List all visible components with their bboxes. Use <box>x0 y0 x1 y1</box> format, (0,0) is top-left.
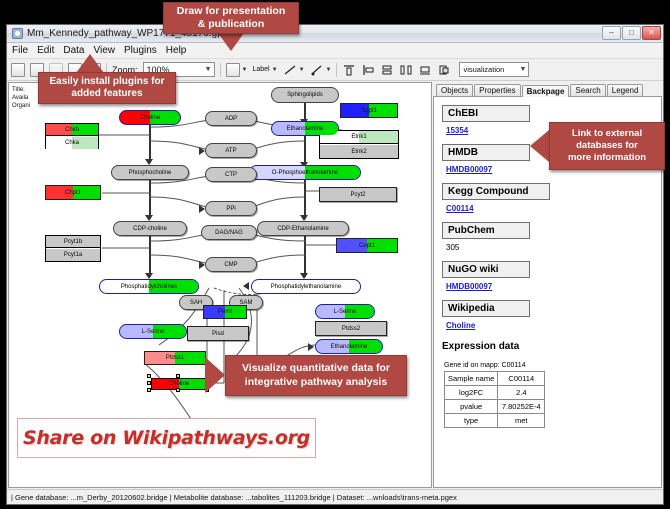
node-label: Ethanolamine <box>331 344 368 350</box>
gene-node-sgpl1[interactable]: Sgpl1 <box>340 103 398 118</box>
node-label: CDP-choline <box>133 226 167 232</box>
cell-value: 7.80252E-4 <box>498 400 545 414</box>
node-label: Ptdss1 <box>166 355 184 361</box>
db-header-nugo-wiki: NuGO wiki <box>442 261 530 278</box>
gene-node-pisd[interactable]: Pisd <box>187 326 249 341</box>
selection-handle-w[interactable] <box>147 381 151 385</box>
gene-group-pcyt1[interactable]: Pcyt1b Pcyt1a <box>45 235 101 262</box>
node-label: DAG/NAG <box>215 230 243 236</box>
selection-handle-s[interactable] <box>176 388 180 392</box>
visualization-combo[interactable]: visualization ▼ <box>459 62 529 77</box>
expression-data-title: Expression data <box>442 341 655 352</box>
db-header-hmdb: HMDB <box>442 144 530 161</box>
db-link-hmdb[interactable]: HMDB00097 <box>446 165 492 174</box>
stack-vertical-icon[interactable] <box>380 63 394 77</box>
metabolite-node-cdp-ethanolamine[interactable]: CDP-Ethanolamine <box>257 221 349 236</box>
close-button[interactable]: ✕ <box>642 26 661 40</box>
size-equal-icon[interactable] <box>418 63 432 77</box>
callout-share-on-wikipathways: Share on Wikipathways.org <box>17 418 316 458</box>
node-label: Sphingolipids <box>287 92 323 98</box>
node-label: Chkb <box>65 127 79 133</box>
minimize-button[interactable]: – <box>602 26 621 40</box>
metabolite-node-phosphocholine[interactable]: Phosphocholine <box>111 165 189 180</box>
node-label: L-Serine <box>334 309 357 315</box>
menu-item-file[interactable]: File <box>12 45 28 56</box>
metabolite-node-cmp[interactable]: CMP <box>205 257 257 272</box>
application-icon <box>12 28 23 39</box>
node-label: O-Phosphoethanolamine <box>272 170 338 176</box>
visualization-chevron-down-icon: ▼ <box>520 66 527 73</box>
node-label: Phosphatidylethanolamine <box>271 284 341 290</box>
cell-label: pvalue <box>445 400 498 414</box>
db-link-kegg-compound[interactable]: C00114 <box>446 204 474 213</box>
gene-node-pemt[interactable]: Pemt <box>203 305 247 319</box>
metabolite-node-o-phosphoethanolamine[interactable]: O-Phosphoethanolamine <box>249 165 361 180</box>
label-chevron-down-icon[interactable]: ▼ <box>272 67 278 73</box>
gene-node-etnk2[interactable]: Etnk2 <box>320 145 398 158</box>
cell-label: Sample name <box>445 372 498 386</box>
node-label: Ptdss2 <box>342 326 360 332</box>
db-link-wikipedia[interactable]: Choline <box>446 321 475 330</box>
callout-pointer-up <box>76 54 104 73</box>
callout-text: Draw for presentation & publication <box>169 3 294 33</box>
node-label: SAH <box>190 300 202 306</box>
node-label: L-Serine <box>142 329 165 335</box>
node-label: Ethanolamine <box>287 126 324 132</box>
node-label: ADP <box>225 116 237 122</box>
expression-data-table: Sample name C00114 log2FC 2.4 pvalue 7.8… <box>444 371 545 428</box>
callout-pointer-right <box>205 357 225 393</box>
line-icon[interactable] <box>283 63 297 77</box>
node-label: Phosphatidylcholines <box>121 284 177 290</box>
menu-item-edit[interactable]: Edit <box>37 45 54 56</box>
node-label: Chka <box>65 140 79 146</box>
node-label: Cept1 <box>359 243 375 249</box>
cell-value: met <box>498 414 545 428</box>
db-value-pubchem: 305 <box>446 243 459 252</box>
distribute-horizontal-icon[interactable] <box>399 63 413 77</box>
interaction-icon[interactable] <box>310 63 324 77</box>
selection-handle-n[interactable] <box>176 374 180 378</box>
interaction-chevron-down-icon[interactable]: ▼ <box>326 67 332 73</box>
chevron-down-icon: ▼ <box>205 66 212 73</box>
gene-node-pcyt1b[interactable]: Pcyt1b <box>46 236 100 248</box>
node-label: Etnk1 <box>351 134 366 140</box>
node-label: CTP <box>225 172 237 178</box>
callout-text: Easily install plugins for added feature… <box>41 74 172 103</box>
table-row: pvalue 7.80252E-4 <box>445 400 545 414</box>
callout-visualize-quantitative-data: Visualize quantitative data for integrat… <box>225 355 407 396</box>
tab-backpage[interactable]: Backpage <box>522 85 570 97</box>
gene-node-chkb[interactable]: Chkb <box>46 124 98 136</box>
node-label: CMP <box>224 262 237 268</box>
toolbar-separator-3 <box>336 63 337 77</box>
metabolite-node-dagnag[interactable]: DAG/NAG <box>201 225 257 240</box>
node-label: Chpt1 <box>65 190 81 196</box>
metabolite-node-atp[interactable]: ATP <box>205 143 257 158</box>
tab-properties[interactable]: Properties <box>474 84 520 96</box>
side-panel-tabs: Objects Properties Backpage Search Legen… <box>433 82 662 97</box>
db-header-wikipedia: Wikipedia <box>442 300 530 317</box>
arrowhead-ppi <box>199 205 205 213</box>
arrowhead-ethanolamine-bottom <box>308 343 314 351</box>
callout-pointer-down <box>218 33 244 51</box>
node-label: Phosphocholine <box>129 170 172 176</box>
callout-draw-for-presentation: Draw for presentation & publication <box>163 2 299 34</box>
db-header-pubchem: PubChem <box>442 222 530 239</box>
node-label: CDP-Ethanolamine <box>277 226 328 232</box>
gene-id-on-mapp: Gene id on mapp: C00114 <box>444 362 655 369</box>
callout-pointer-left <box>530 130 549 162</box>
tab-objects[interactable]: Objects <box>436 84 473 96</box>
node-label: Pcyt2 <box>350 192 365 198</box>
toolbar-separator-2 <box>220 63 221 77</box>
gene-node-pcyt2[interactable]: Pcyt2 <box>319 187 397 202</box>
node-label: Sgpl1 <box>361 108 376 114</box>
gene-node-chpt1[interactable]: Chpt1 <box>45 185 101 200</box>
table-row: log2FC 2.4 <box>445 386 545 400</box>
gene-node-ptdss2[interactable]: Ptdss2 <box>315 321 387 336</box>
metabolite-node-l-serine-right[interactable]: L-Serine <box>315 304 375 319</box>
gene-node-chka[interactable]: Chka <box>46 137 98 149</box>
gene-node-pcyt1a[interactable]: Pcyt1a <box>46 249 100 261</box>
new-file-icon[interactable] <box>11 63 25 77</box>
title-bar: Mm_Kennedy_pathway_WP1771_45176.gpml – □… <box>7 25 663 43</box>
tab-search[interactable]: Search <box>570 84 605 96</box>
selection-handle-nw[interactable] <box>147 374 151 378</box>
node-label: Pisd <box>212 331 224 337</box>
metabolite-node-adp[interactable]: ADP <box>205 111 257 126</box>
arrowhead-ptdcholine-from-ptdetn <box>243 282 249 290</box>
selection-handle-sw[interactable] <box>147 388 151 392</box>
menu-item-plugins[interactable]: Plugins <box>124 45 157 56</box>
menu-item-help[interactable]: Help <box>166 45 187 56</box>
metabolite-node-sphingolipids[interactable]: Sphingolipids <box>271 87 339 103</box>
arrowhead-cmp <box>199 261 205 269</box>
selected-choline-group[interactable]: Choline <box>147 374 211 392</box>
metabolite-node-choline-top[interactable]: Choline <box>119 110 181 125</box>
metabolite-node-ethanolamine-bottom[interactable]: Ethanolamine <box>315 339 383 354</box>
cell-value: 2.4 <box>498 386 545 400</box>
table-row: type met <box>445 414 545 428</box>
screenshot-root: Mm_Kennedy_pathway_WP1771_45176.gpml – □… <box>0 0 670 509</box>
cell-label: log2FC <box>445 386 498 400</box>
node-label: PPi <box>226 206 235 212</box>
node-label: Choline <box>169 381 189 387</box>
db-link-nugo-wiki[interactable]: HMDB00097 <box>446 282 492 291</box>
db-header-kegg-compound: Kegg Compound <box>442 183 550 200</box>
db-header-chebi: ChEBI <box>442 105 530 122</box>
node-label: SAM <box>239 300 252 306</box>
line-chevron-down-icon[interactable]: ▼ <box>299 67 305 73</box>
node-label: Pcyt1a <box>64 252 82 258</box>
callout-link-external-databases: Link to external databases for more info… <box>549 122 665 170</box>
metabolite-node-phosphatidylethanolamine[interactable]: Phosphatidylethanolamine <box>251 279 361 294</box>
metabolite-node-phosphatidylcholines[interactable]: Phosphatidylcholines <box>99 279 199 294</box>
callout-easily-install-plugins: Easily install plugins for added feature… <box>38 72 176 104</box>
node-label: Pcyt1b <box>64 239 82 245</box>
share-text: Share on Wikipathways.org <box>23 427 310 449</box>
table-row: Sample name C00114 <box>445 372 545 386</box>
tab-legend[interactable]: Legend <box>607 84 644 96</box>
node-label: Pemt <box>218 309 232 315</box>
metabolite-node-l-serine-left[interactable]: L-Serine <box>119 324 187 339</box>
metabolite-node-ctp[interactable]: CTP <box>205 167 257 182</box>
db-link-chebi[interactable]: 15354 <box>446 126 468 135</box>
metabolite-node-cdp-choline[interactable]: CDP-choline <box>113 221 187 236</box>
bring-front-icon[interactable] <box>437 63 451 77</box>
window-controls: – □ ✕ <box>602 26 661 40</box>
label-tool-label[interactable]: Label <box>252 66 269 73</box>
gene-node-cept1[interactable]: Cept1 <box>336 238 398 253</box>
arrowhead-atp <box>199 147 205 155</box>
status-bar: | Gene database: ...m_Derby_20120602.bri… <box>7 489 663 504</box>
align-left-icon[interactable] <box>361 63 375 77</box>
metabolite-node-ethanolamine-top[interactable]: Ethanolamine <box>271 121 339 136</box>
node-label: Choline <box>140 115 160 121</box>
callout-text: Link to external databases for more info… <box>560 126 654 166</box>
align-top-icon[interactable] <box>342 63 356 77</box>
maximize-button[interactable]: □ <box>622 26 641 40</box>
gene-node-ptdss1[interactable]: Ptdss1 <box>144 351 206 365</box>
gene-group-chk[interactable]: Chkb Chka <box>45 123 99 149</box>
metabolite-node-ppi[interactable]: PPi <box>205 201 257 216</box>
datanode-icon[interactable] <box>226 63 240 77</box>
menu-bar: File Edit Data View Plugins Help <box>7 43 663 59</box>
cell-value: C00114 <box>498 372 545 386</box>
node-label: ATP <box>225 148 236 154</box>
callout-text: Visualize quantitative data for integrat… <box>234 360 398 390</box>
visualization-value: visualization <box>463 65 504 74</box>
node-label: Etnk2 <box>351 149 366 155</box>
datanode-chevron-down-icon[interactable]: ▼ <box>242 67 248 73</box>
cell-label: type <box>445 414 498 428</box>
